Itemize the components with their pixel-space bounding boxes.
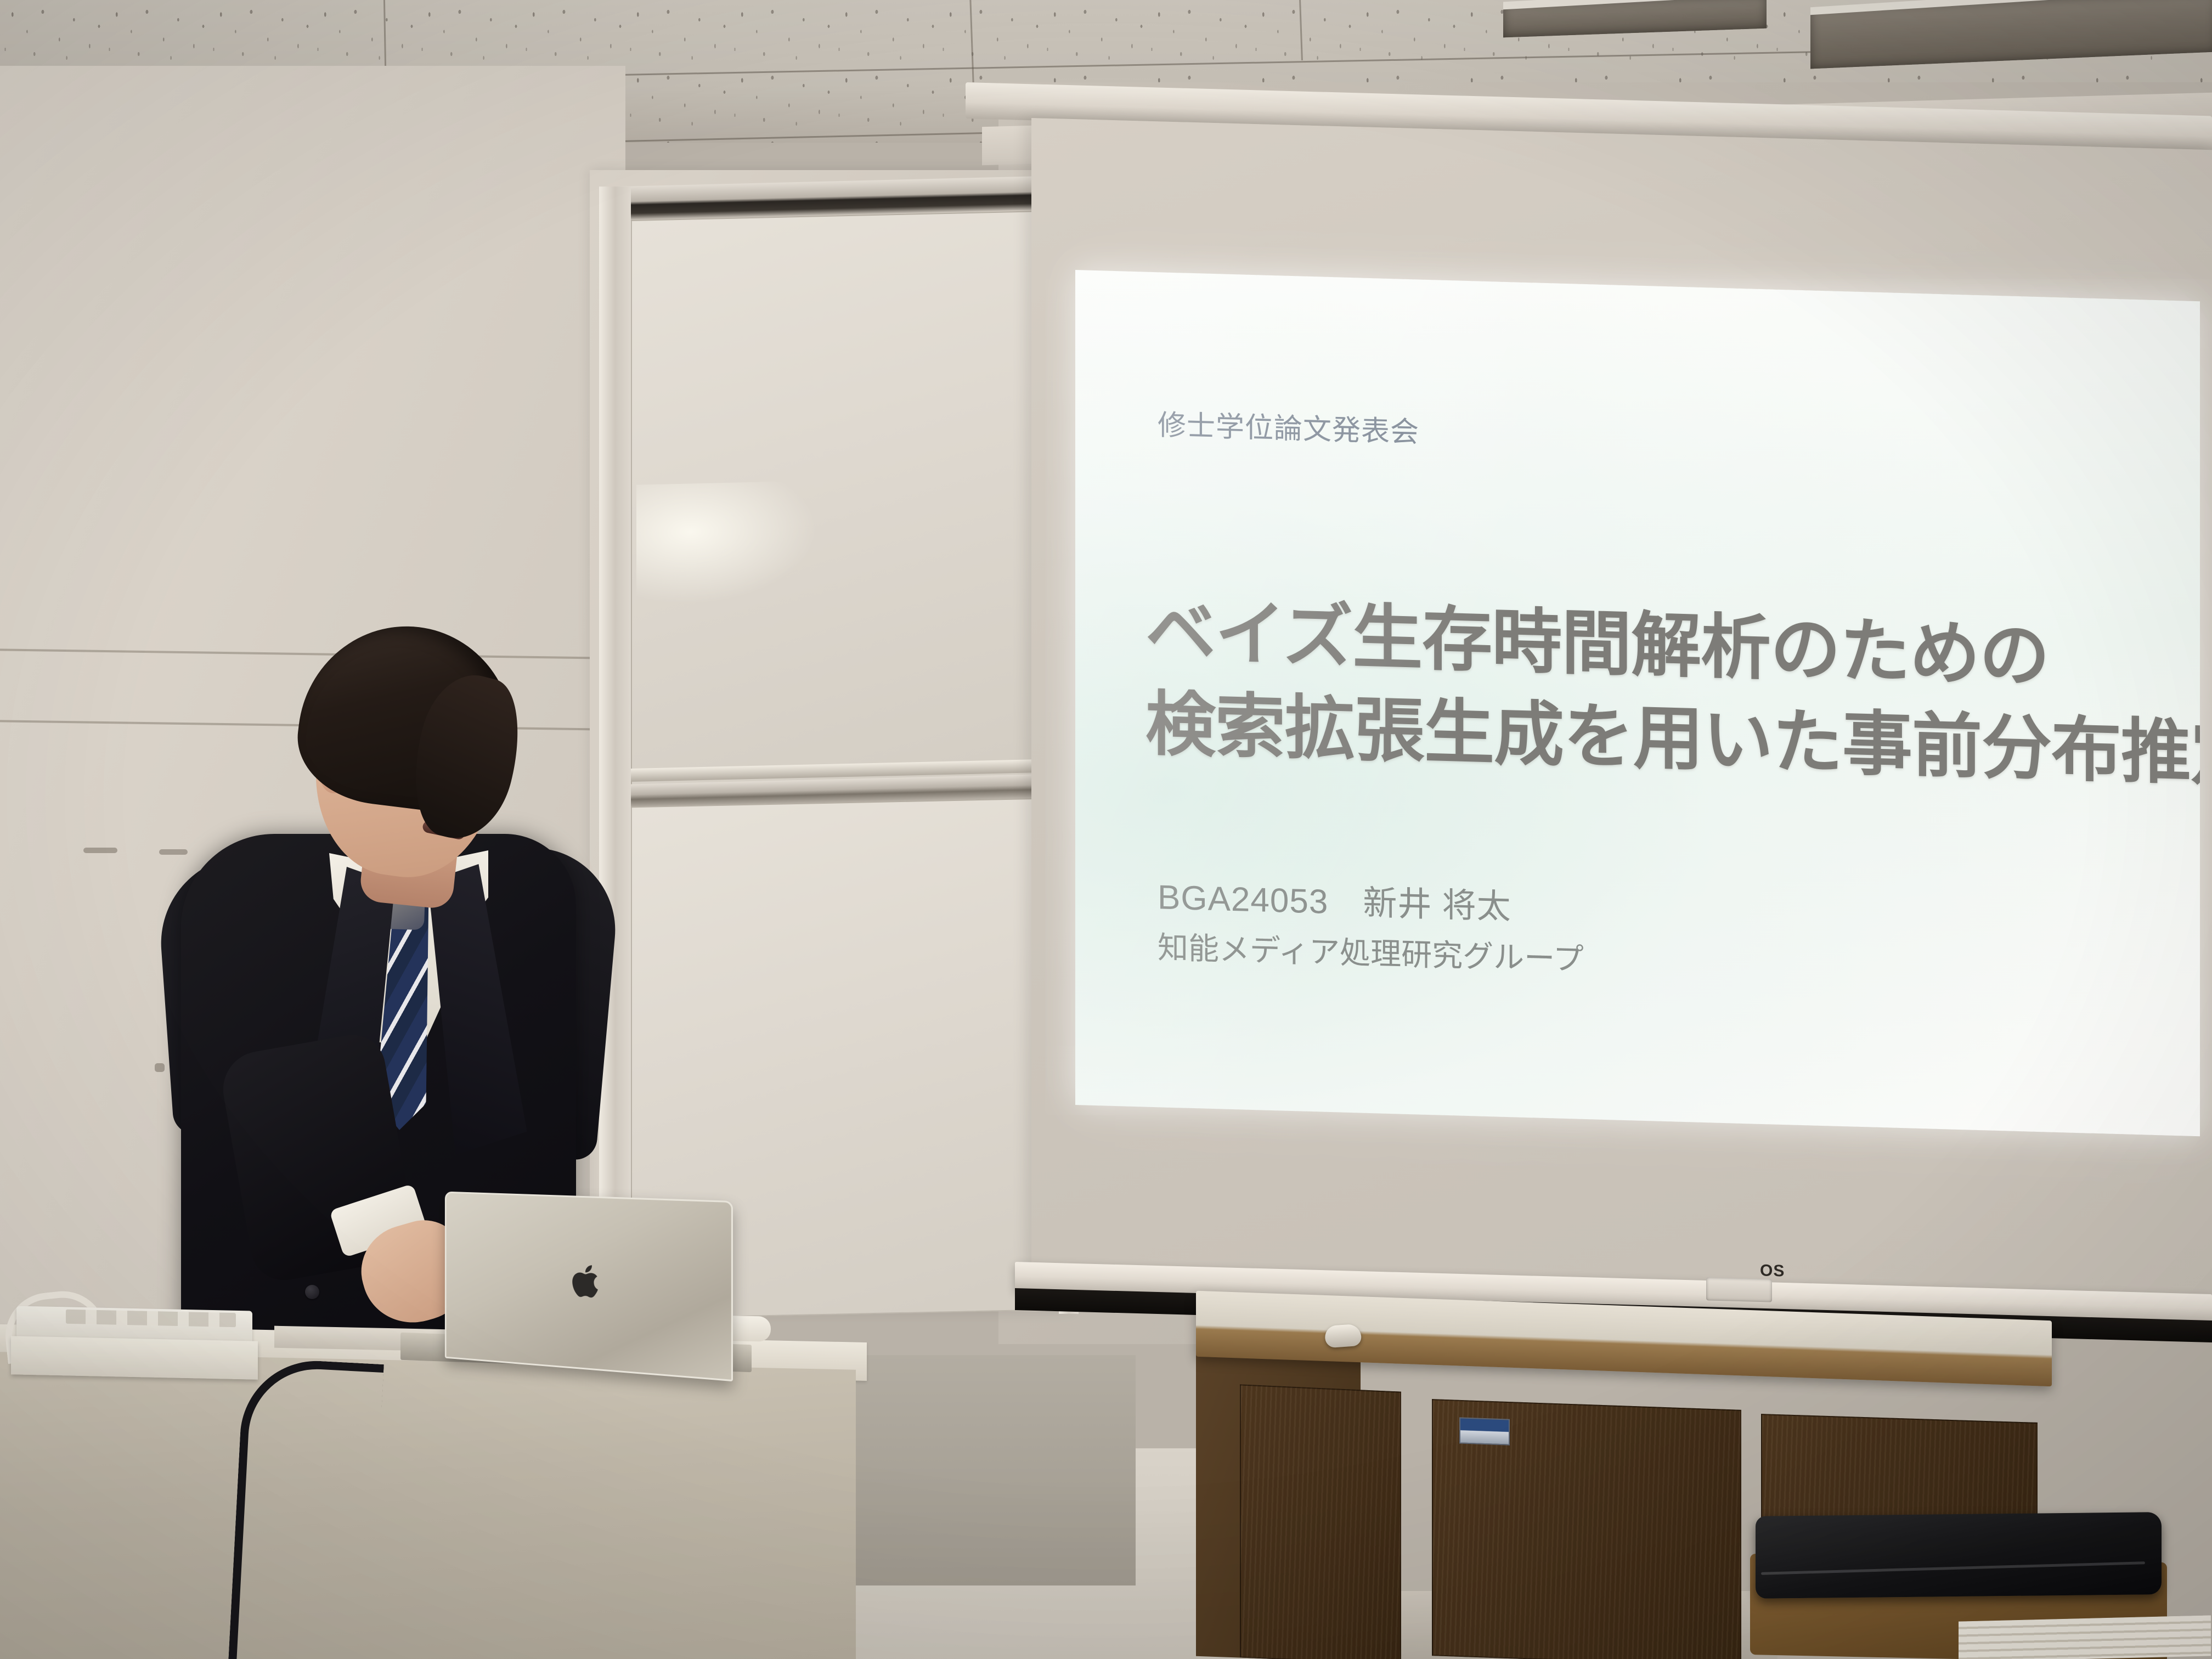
presenter-desk-front <box>0 1351 856 1659</box>
wireless-mouse[interactable] <box>1324 1324 1362 1348</box>
lecture-room-photo: 修士学位論文発表会 ベイズ生存時間解析のための 検索拡張生成を用いた事前分布推定… <box>0 0 2212 1659</box>
screen-brand-mark: OS <box>1760 1261 1785 1280</box>
black-power-cable <box>228 1357 384 1659</box>
slide-eyebrow-text: 修士学位論文発表会 <box>1158 402 1419 450</box>
whiteboard-panel-upper <box>631 210 1066 793</box>
white-binder <box>11 1336 258 1379</box>
apple-logo-icon <box>571 1261 603 1301</box>
whiteboard-left-post <box>599 187 631 1317</box>
projected-slide: 修士学位論文発表会 ベイズ生存時間解析のための 検索拡張生成を用いた事前分布推定… <box>1075 270 2200 1136</box>
slide-affiliation: 知能メディア処理研究グループ <box>1158 923 1584 979</box>
slide-author: BGA24053 新井 将太 <box>1158 869 1511 928</box>
wall-scuff-mark <box>159 849 188 855</box>
slide-content: 修士学位論文発表会 ベイズ生存時間解析のための 検索拡張生成を用いた事前分布推定… <box>1158 272 2178 1136</box>
suit-button <box>305 1285 319 1299</box>
projection-screen-pull-tab[interactable] <box>1706 1277 1772 1302</box>
wall-scuff-mark <box>155 1063 165 1072</box>
desk-side-shadow <box>828 1355 1136 1585</box>
lectern-panel <box>1240 1384 1401 1659</box>
slide-title: ベイズ生存時間解析のための 検索拡張生成を用いた事前分布推定 <box>1145 586 2200 803</box>
paper-stack <box>1959 1615 2211 1659</box>
lectern-info-plate <box>1459 1417 1510 1445</box>
black-laptop-bag <box>1756 1512 2162 1599</box>
wall-scuff-mark <box>83 848 117 853</box>
